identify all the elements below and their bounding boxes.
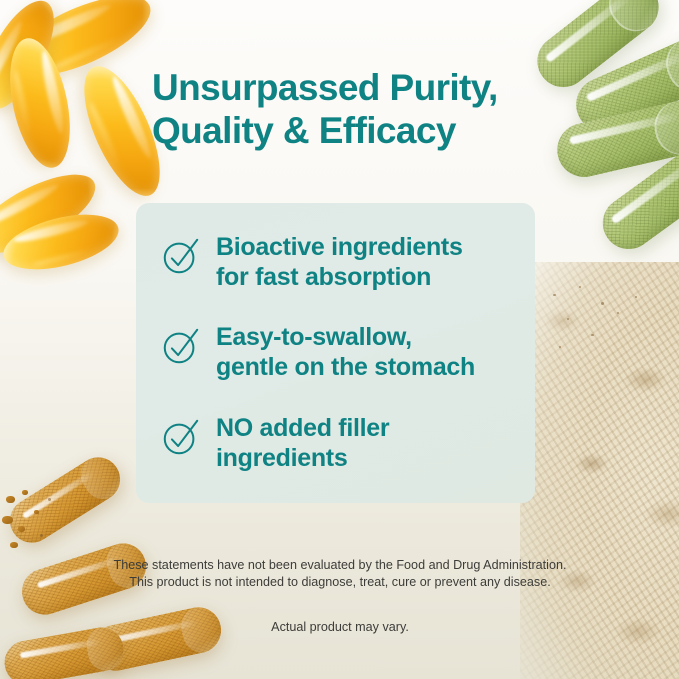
benefit-text: Easy-to-swallow, gentle on the stomach <box>216 323 475 382</box>
benefit-item: Bioactive ingredients for fast absorptio… <box>160 233 463 292</box>
headline-line-2: Quality & Efficacy <box>152 109 552 152</box>
green-capsule-photo <box>552 96 679 183</box>
softgel-capsule-photo <box>0 0 68 120</box>
product-variance-note: Actual product may vary. <box>100 620 580 634</box>
benefit-item: Easy-to-swallow, gentle on the stomach <box>160 323 475 382</box>
spilled-powder-crumbs <box>0 486 80 566</box>
check-circle-icon <box>160 416 202 458</box>
benefit-item: NO added filler ingredients <box>160 414 389 473</box>
amber-capsule-photo <box>89 603 226 675</box>
page-title: Unsurpassed Purity, Quality & Efficacy <box>152 66 552 153</box>
powder-speck-group <box>545 282 665 372</box>
benefits-card: Bioactive ingredients for fast absorptio… <box>136 203 535 503</box>
green-capsule-photo <box>568 30 679 140</box>
amber-capsule-photo <box>2 449 129 551</box>
check-circle-icon <box>160 325 202 367</box>
benefit-text: NO added filler ingredients <box>216 414 389 473</box>
powder-pile-photo <box>520 262 679 679</box>
softgel-capsule-photo <box>0 159 106 269</box>
fda-disclaimer: These statements have not been evaluated… <box>100 557 580 590</box>
softgel-capsule-photo <box>1 0 161 92</box>
product-feature-graphic: Unsurpassed Purity, Quality & Efficacy B… <box>0 0 679 679</box>
softgel-capsule-photo <box>0 33 80 173</box>
check-circle-icon <box>160 235 202 277</box>
green-capsule-photo <box>592 133 679 260</box>
headline-line-1: Unsurpassed Purity, <box>152 66 552 109</box>
benefit-text: Bioactive ingredients for fast absorptio… <box>216 233 463 292</box>
softgel-capsule-photo <box>0 204 124 279</box>
